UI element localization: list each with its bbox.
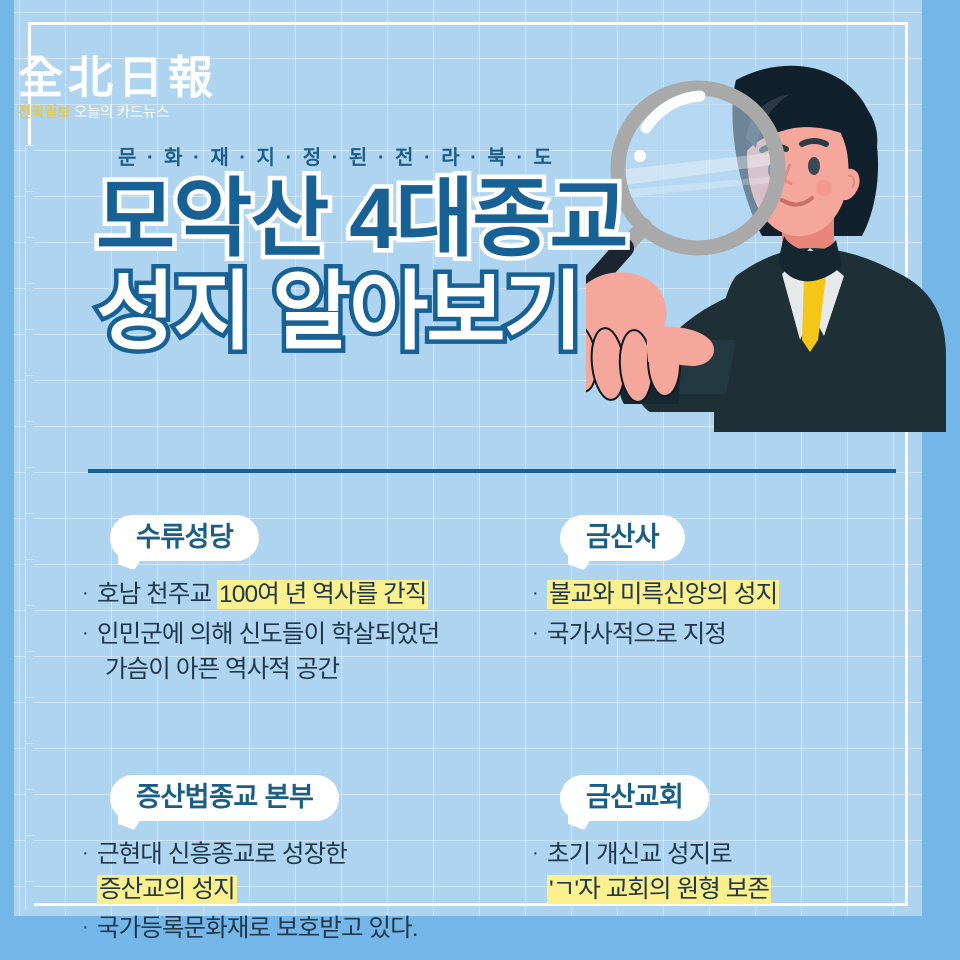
bullet-dot-icon: · [532, 618, 547, 649]
highlighted-phrase: 'ㄱ'자 교회의 원형 보존 [547, 875, 771, 904]
plain-phrase: 국가등록문화재로 보호받고 있다. [97, 915, 418, 942]
content-area: 수류성당·호남 천주교 100여 년 역사를 간직·인민군에 의해 신도들이 학… [0, 515, 960, 952]
plain-phrase: 호남 천주교 [97, 581, 217, 608]
bullet-line: 증산교의 성지 [97, 873, 510, 908]
plain-phrase: 인민군에 의해 신도들이 학살되었던 [97, 621, 439, 648]
masthead-subtitle: 전북일보 오늘의 카드뉴스 [18, 106, 218, 121]
bullet-line: 호남 천주교 100여 년 역사를 간직 [97, 578, 510, 613]
section-label-bubble: 증산법종교 본부 [110, 775, 510, 821]
section-card-3: 금산교회·초기 개신교 성지로'ㄱ'자 교회의 원형 보존 [532, 775, 960, 953]
kicker-text: 문 · 화 · 재 · 지 · 정 · 된 · 전 · 라 · 북 · 도 [118, 141, 554, 170]
bullet-text: 국가등록문화재로 보호받고 있다. [97, 912, 510, 947]
bullet-text: 초기 개신교 성지로'ㄱ'자 교회의 원형 보존 [547, 838, 960, 908]
bullet-dot-icon: · [532, 578, 547, 609]
bullet-line: 인민군에 의해 신도들이 학살되었던 [97, 618, 510, 653]
bullet-line: 근현대 신흥종교로 성장한 [97, 838, 510, 873]
bullet-line: 불교와 미륵신앙의 성지 [547, 578, 960, 613]
section-label-text: 금산교회 [560, 775, 709, 821]
bullet-item: ·불교와 미륵신앙의 성지 [532, 578, 960, 613]
section-label-bubble: 금산사 [560, 515, 960, 561]
bullet-line: 국가사적으로 지정 [547, 618, 960, 653]
bullet-dot-icon: · [82, 838, 97, 869]
masthead: 全北日報 전북일보 오늘의 카드뉴스 [18, 55, 218, 121]
bullet-text: 호남 천주교 100여 년 역사를 간직 [97, 578, 510, 613]
plain-phrase: 국가사적으로 지정 [547, 621, 726, 648]
section-label-bubble: 수류성당 [110, 515, 510, 561]
bullet-item: ·호남 천주교 100여 년 역사를 간직 [82, 578, 510, 613]
man-with-magnifying-glass-illustration [586, 40, 946, 470]
bullet-dot-icon: · [532, 838, 547, 869]
bullet-dot-icon: · [82, 618, 97, 649]
section-label-text: 수류성당 [110, 515, 259, 561]
section-card-2: 증산법종교 본부·근현대 신흥종교로 성장한증산교의 성지·국가등록문화재로 보… [82, 775, 510, 953]
content-row-2: 증산법종교 본부·근현대 신흥종교로 성장한증산교의 성지·국가등록문화재로 보… [0, 775, 960, 953]
plain-phrase: 근현대 신흥종교로 성장한 [97, 841, 347, 868]
bullet-line: 'ㄱ'자 교회의 원형 보존 [547, 873, 960, 908]
section-label-text: 증산법종교 본부 [110, 775, 339, 821]
section-bullet-list: ·초기 개신교 성지로'ㄱ'자 교회의 원형 보존 [532, 838, 960, 908]
bullet-item: ·국가사적으로 지정 [532, 618, 960, 653]
page-title: 모악산 4대종교 성지 알아보기 [96, 178, 626, 353]
headline-line-2: 성지 알아보기 [96, 271, 626, 354]
plain-phrase: 초기 개신교 성지로 [547, 841, 732, 868]
bullet-line: 가슴이 아픈 역사적 공간 [97, 653, 510, 688]
section-label-bubble: 금산교회 [560, 775, 960, 821]
content-row-1: 수류성당·호남 천주교 100여 년 역사를 간직·인민군에 의해 신도들이 학… [0, 515, 960, 693]
headline-line-1: 모악산 4대종교 [96, 178, 626, 261]
newspaper-logo: 全北日報 [18, 55, 218, 100]
bullet-item: ·근현대 신흥종교로 성장한증산교의 성지 [82, 838, 510, 908]
highlighted-phrase: 증산교의 성지 [97, 875, 237, 904]
bullet-line: 초기 개신교 성지로 [547, 838, 960, 873]
highlighted-phrase: 100여 년 역사를 간직 [217, 580, 428, 609]
bullet-dot-icon: · [82, 912, 97, 943]
bullet-text: 국가사적으로 지정 [547, 618, 960, 653]
bullet-line: 국가등록문화재로 보호받고 있다. [97, 912, 510, 947]
section-bullet-list: ·호남 천주교 100여 년 역사를 간직·인민군에 의해 신도들이 학살되었던… [82, 578, 510, 687]
bullet-dot-icon: · [82, 578, 97, 609]
bullet-item: ·초기 개신교 성지로'ㄱ'자 교회의 원형 보존 [532, 838, 960, 908]
highlighted-phrase: 불교와 미륵신앙의 성지 [547, 580, 779, 609]
section-label-text: 금산사 [560, 515, 685, 561]
masthead-brand-name: 전북일보 [18, 105, 70, 121]
bullet-text: 인민군에 의해 신도들이 학살되었던가슴이 아픈 역사적 공간 [97, 618, 510, 688]
bullet-text: 근현대 신흥종교로 성장한증산교의 성지 [97, 838, 510, 908]
bullet-text: 불교와 미륵신앙의 성지 [547, 578, 960, 613]
masthead-series-name: 오늘의 카드뉴스 [70, 105, 169, 121]
section-bullet-list: ·근현대 신흥종교로 성장한증산교의 성지·국가등록문화재로 보호받고 있다. [82, 838, 510, 947]
card-news-canvas: 全北日報 전북일보 오늘의 카드뉴스 문 · 화 · 재 · 지 · 정 · 된… [0, 0, 960, 960]
bullet-item: ·인민군에 의해 신도들이 학살되었던가슴이 아픈 역사적 공간 [82, 618, 510, 688]
section-card-1: 금산사·불교와 미륵신앙의 성지·국가사적으로 지정 [532, 515, 960, 693]
bullet-item: ·국가등록문화재로 보호받고 있다. [82, 912, 510, 947]
plain-phrase: 가슴이 아픈 역사적 공간 [105, 656, 339, 683]
section-card-0: 수류성당·호남 천주교 100여 년 역사를 간직·인민군에 의해 신도들이 학… [82, 515, 510, 693]
section-bullet-list: ·불교와 미륵신앙의 성지·국가사적으로 지정 [532, 578, 960, 653]
